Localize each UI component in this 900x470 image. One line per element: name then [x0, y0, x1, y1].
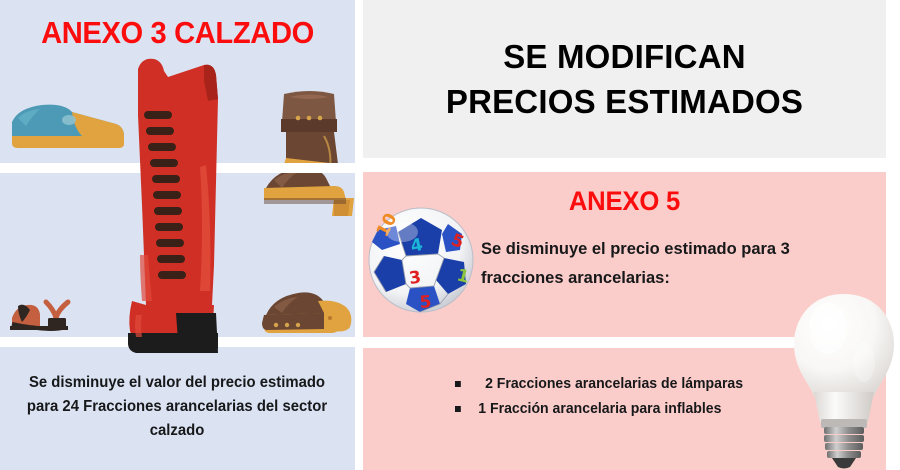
anexo5-lead-text: Se disminuye el precio estimado para 3 f… — [481, 234, 869, 292]
list-item: 2 Fracciones arancelarias de lámparas — [455, 372, 862, 397]
left-panel-title: ANEXO 3 CALZADO — [11, 14, 345, 52]
bullet-square-icon — [455, 406, 461, 412]
infographic-canvas: ANEXO 3 CALZADO Se disminuye el valor de… — [0, 0, 900, 470]
left-panel-caption: Se disminuye el valor del precio estimad… — [19, 371, 336, 443]
list-item-label: 1 Fracción arancelaria para inflables — [478, 401, 721, 417]
brown-clog-icon — [258, 285, 355, 340]
anexo5-title: ANEXO 5 — [376, 186, 873, 217]
anexo5-bullet-list: 2 Fracciones arancelarias de lámparas 1 … — [455, 372, 875, 422]
header-panel: SE MODIFICAN PRECIOS ESTIMADOS — [363, 0, 886, 158]
terracotta-sandal-icon — [10, 296, 82, 341]
header-title-line1: SE MODIFICAN — [503, 34, 746, 79]
list-item: 1 Fracción arancelaria para inflables — [455, 397, 862, 422]
left-panel-calzado: ANEXO 3 CALZADO Se disminuye el valor de… — [0, 0, 355, 470]
red-knee-high-boot-icon — [108, 55, 248, 360]
header-title-line2: PRECIOS ESTIMADOS — [446, 79, 803, 124]
list-item-label: 2 Fracciones arancelarias de lámparas — [485, 376, 743, 392]
soccer-ball-icon: 10 4 5 3 1 5 — [362, 200, 480, 320]
svg-text:5: 5 — [419, 292, 432, 313]
bullet-square-icon — [455, 381, 461, 387]
